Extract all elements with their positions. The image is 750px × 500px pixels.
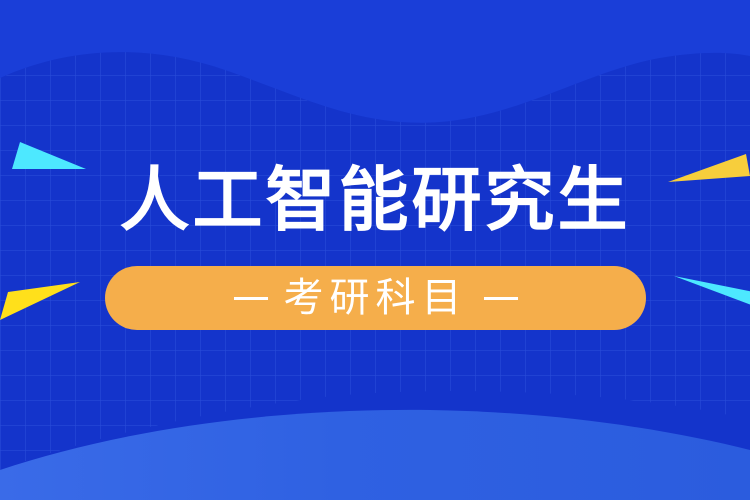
promo-banner: 人工智能研究生 考研科目 xyxy=(0,0,750,500)
banner-headline: 人工智能研究生 xyxy=(0,161,750,239)
pill-right-dash-icon xyxy=(484,297,518,300)
subtitle-pill: 考研科目 xyxy=(105,266,646,330)
banner-content: 人工智能研究生 考研科目 xyxy=(0,0,750,500)
subtitle-label: 考研科目 xyxy=(284,276,468,320)
subtitle-pill-text: 考研科目 xyxy=(234,276,518,320)
pill-left-dash-icon xyxy=(234,297,268,300)
